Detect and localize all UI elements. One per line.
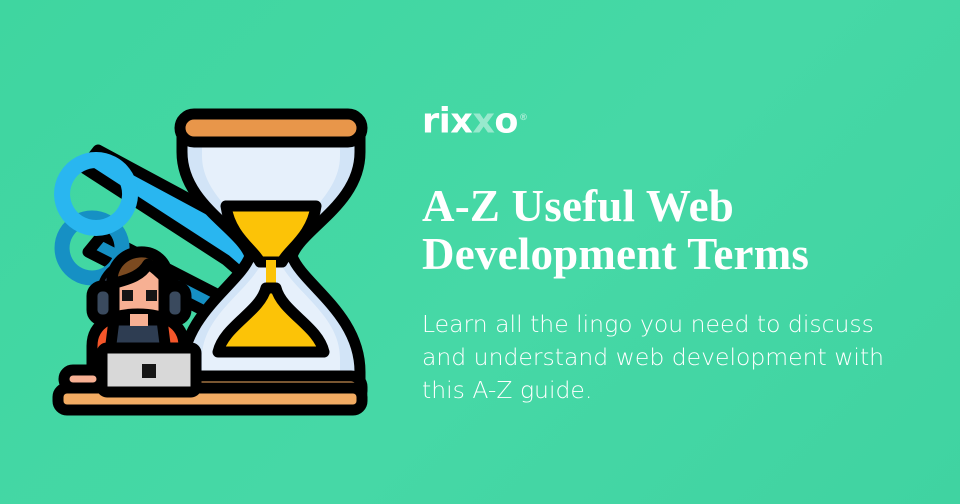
promo-banner: rixxo® A-Z Useful Web Development Terms … <box>0 0 960 504</box>
rixxo-logo[interactable]: rixxo® <box>422 96 922 140</box>
page-title: A-Z Useful Web Development Terms <box>422 182 872 278</box>
content-column: rixxo® A-Z Useful Web Development Terms … <box>422 96 922 431</box>
registered-trademark-icon: ® <box>519 113 528 123</box>
logo-part-two: x <box>472 102 494 142</box>
logo-part-three: o <box>494 102 518 142</box>
hero-illustration <box>30 100 370 420</box>
page-subtitle: Learn all the lingo you need to discuss … <box>422 308 922 407</box>
logo-part-one: rix <box>422 102 472 142</box>
hourglass-icon <box>180 114 362 402</box>
